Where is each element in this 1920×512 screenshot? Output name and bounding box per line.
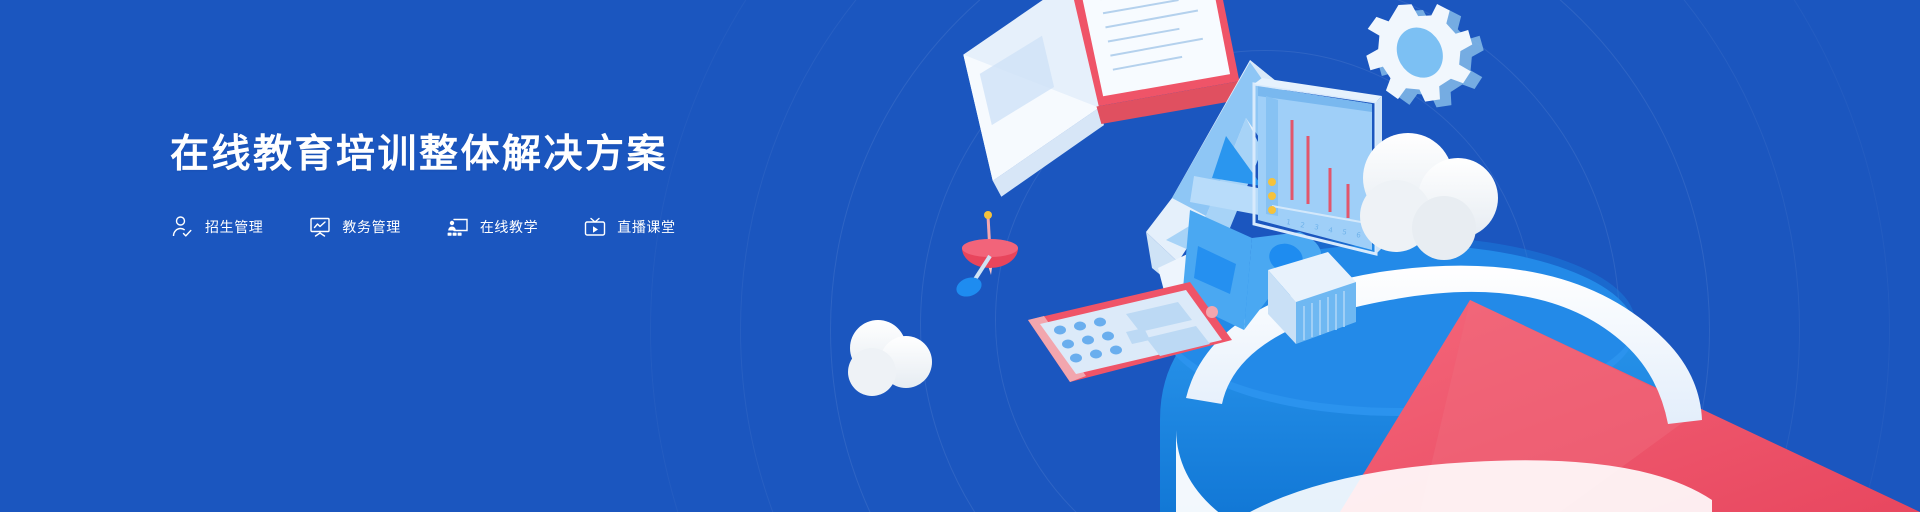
cloud-small [848,320,932,396]
feature-list: 招生管理 教务管理 [170,214,810,240]
page-title: 在线教育培训整体解决方案 [170,132,810,178]
hero-banner: 1 2 3 4 5 6 [0,0,1920,512]
feature-item-online-teaching[interactable]: 在线教学 [445,214,538,240]
presentation-board-chart-icon [307,214,333,240]
spinning-top [954,211,1018,300]
teacher-whiteboard-icon [445,214,471,240]
feature-label: 教务管理 [342,217,400,237]
enrollment-person-check-icon [170,214,196,240]
banner-copy: 在线教育培训整体解决方案 招生管理 [170,132,810,240]
feature-label: 招生管理 [205,217,263,237]
feature-item-live-classroom[interactable]: 直播课堂 [582,214,675,240]
feature-item-academic-affairs[interactable]: 教务管理 [307,214,400,240]
live-tv-play-icon [582,214,608,240]
feature-label: 在线教学 [480,217,538,237]
hero-illustration: 1 2 3 4 5 6 [0,0,1920,512]
feature-item-enrollment[interactable]: 招生管理 [170,214,263,240]
feature-label: 直播课堂 [617,217,675,237]
